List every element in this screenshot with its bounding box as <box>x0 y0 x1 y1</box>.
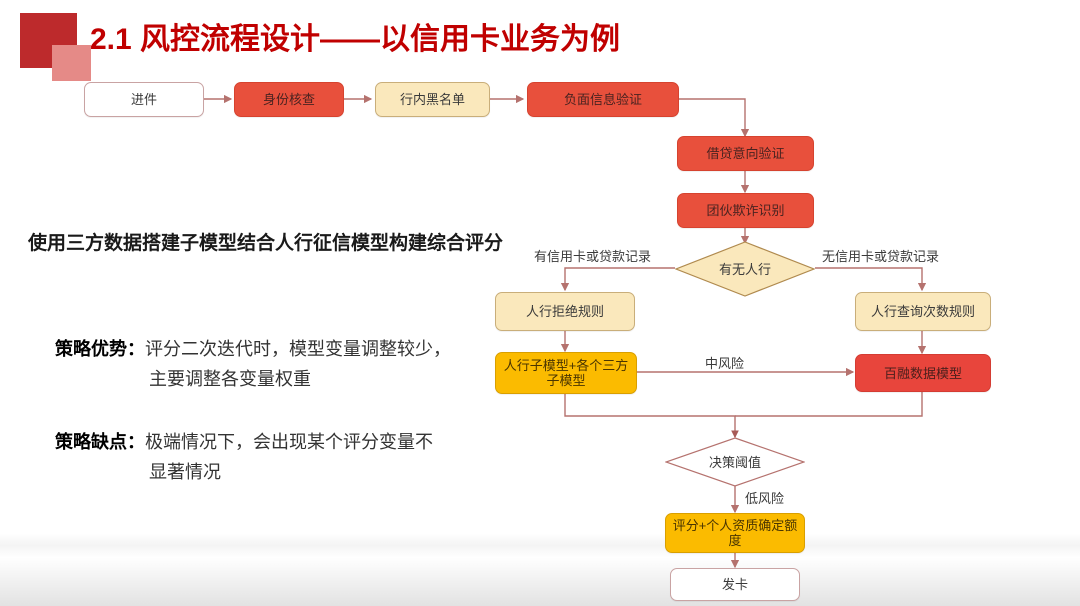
flow-node-label: 人行查询次数规则 <box>871 304 975 319</box>
flow-node-pboc-query-rule[interactable]: 人行查询次数规则 <box>855 292 991 331</box>
bullet-disadvantage-label: 策略缺点： <box>55 432 145 452</box>
bullet-disadvantage: 策略缺点：极端情况下，会出现某个评分变量不 显著情况 <box>55 427 433 487</box>
flow-node-label: 团伙欺诈识别 <box>706 203 784 218</box>
flow-node-issue-card[interactable]: 发卡 <box>670 568 800 601</box>
flow-node-label: 借贷意向验证 <box>706 146 784 161</box>
slide-canvas: 2.1 风控流程设计——以信用卡业务为例 <box>0 0 1080 606</box>
flow-node-label: 行内黑名单 <box>400 92 465 107</box>
lead-statement: 使用三方数据搭建子模型结合人行征信模型构建综合评分 <box>28 228 503 255</box>
flow-node-identity-check[interactable]: 身份核查 <box>234 82 344 117</box>
flow-node-bairong-model[interactable]: 百融数据模型 <box>855 354 991 392</box>
flow-decision-pboc[interactable]: 有无人行 <box>675 241 815 297</box>
flow-node-loan-intent[interactable]: 借贷意向验证 <box>677 136 814 171</box>
flow-node-pboc-reject-rule[interactable]: 人行拒绝规则 <box>495 292 635 331</box>
flow-node-label: 身份核查 <box>263 92 315 107</box>
flow-decision-threshold[interactable]: 决策阈值 <box>665 437 805 487</box>
flow-node-label: 百融数据模型 <box>884 366 962 381</box>
flow-node-score-limit[interactable]: 评分+个人资质确定额度 <box>665 513 805 553</box>
flow-node-label: 人行拒绝规则 <box>526 304 604 319</box>
flow-node-label: 人行子模型+各个三方子模型 <box>499 358 633 388</box>
bullet-advantage-line1: 评分二次迭代时，模型变量调整较少， <box>145 339 451 359</box>
flow-node-group-fraud[interactable]: 团伙欺诈识别 <box>677 193 814 228</box>
flow-node-label: 发卡 <box>722 577 748 592</box>
flow-node-label: 负面信息验证 <box>564 92 642 107</box>
bullet-disadvantage-line1: 极端情况下，会出现某个评分变量不 <box>145 432 433 452</box>
header-square-light-icon <box>52 45 91 81</box>
edge-label-no-credit: 无信用卡或贷款记录 <box>822 246 939 265</box>
bullet-advantage-line2: 主要调整各变量权重 <box>55 364 451 394</box>
flow-node-pboc-submodel[interactable]: 人行子模型+各个三方子模型 <box>495 352 637 394</box>
flow-node-label: 评分+个人资质确定额度 <box>669 518 801 548</box>
bullet-advantage-label: 策略优势： <box>55 339 145 359</box>
edge-label-medium-risk: 中风险 <box>705 353 744 372</box>
edge-label-has-credit: 有信用卡或贷款记录 <box>534 246 651 265</box>
page-title: 2.1 风控流程设计——以信用卡业务为例 <box>90 14 620 58</box>
flow-node-intake[interactable]: 进件 <box>84 82 204 117</box>
flow-node-label: 进件 <box>131 92 157 107</box>
bullet-disadvantage-line2: 显著情况 <box>55 457 433 487</box>
flow-node-negative-info[interactable]: 负面信息验证 <box>527 82 679 117</box>
edge-label-low-risk: 低风险 <box>745 488 784 507</box>
bullet-advantage: 策略优势：评分二次迭代时，模型变量调整较少， 主要调整各变量权重 <box>55 334 451 394</box>
flow-node-internal-blacklist[interactable]: 行内黑名单 <box>375 82 490 117</box>
